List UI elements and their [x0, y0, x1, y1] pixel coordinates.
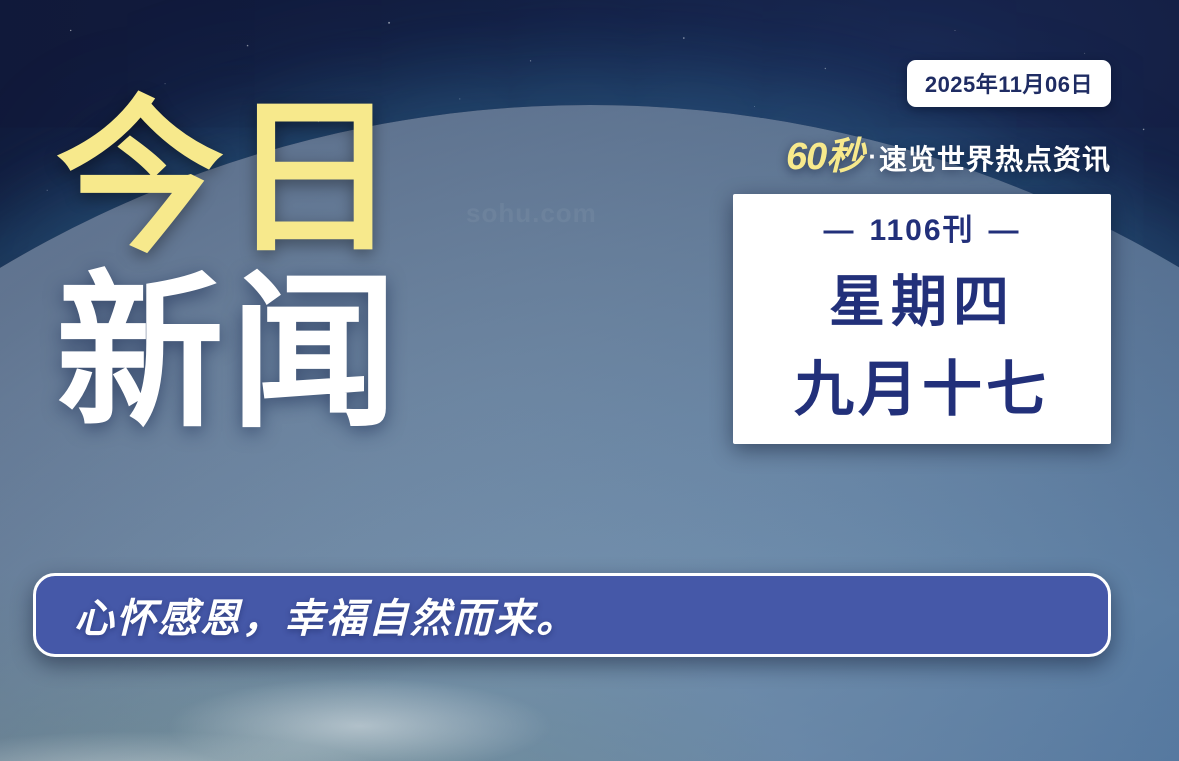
date-card: —1106刊— 星期四 九月十七: [733, 194, 1111, 444]
issue-number: 1106刊: [869, 214, 974, 247]
issue-number-row: —1106刊—: [743, 216, 1101, 246]
date-badge: 2025年11月06日: [907, 60, 1111, 107]
quote-banner: 心怀感恩，幸福自然而来。: [33, 573, 1111, 657]
right-column: 2025年11月06日 60秒·速览世界热点资讯 —1106刊— 星期四 九月十…: [733, 60, 1111, 444]
brand-title-line-1: 今日: [56, 96, 476, 261]
news-poster: sohu.com 今日 新闻 2025年11月06日 60秒·速览世界热点资讯 …: [0, 0, 1179, 761]
quote-text: 心怀感恩，幸福自然而来。: [74, 586, 578, 644]
tagline-separator: ·: [863, 141, 879, 171]
brand-title-line-2: 新闻: [56, 271, 476, 436]
issue-dash-left: —: [809, 214, 869, 247]
issue-dash-right: —: [975, 214, 1035, 247]
tagline-highlight: 60秒: [786, 136, 863, 178]
weekday-label: 星期四: [743, 274, 1101, 330]
lunar-date-label: 九月十七: [743, 360, 1101, 420]
tagline: 60秒·速览世界热点资讯: [733, 125, 1111, 180]
tagline-rest: 速览世界热点资讯: [879, 144, 1111, 175]
brand-title: 今日 新闻: [56, 96, 476, 435]
watermark-text: sohu.com: [466, 198, 597, 229]
